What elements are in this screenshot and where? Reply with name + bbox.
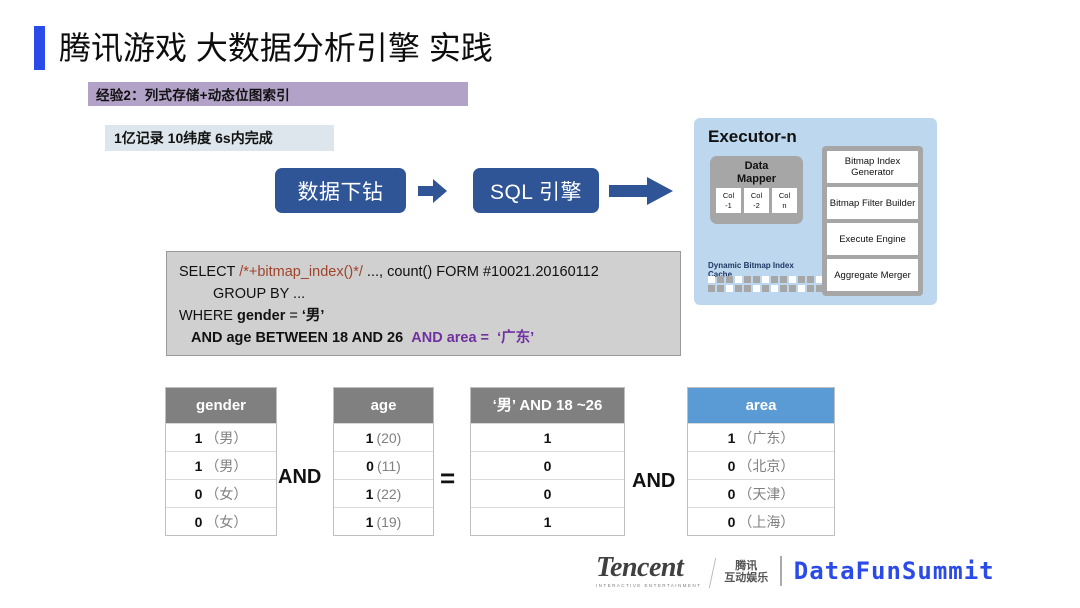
- bitmap-cell: [735, 285, 742, 292]
- table-row: 0（北京）: [688, 451, 834, 479]
- cell-bit: 1: [544, 514, 552, 530]
- sql-line-2: GROUP BY ...: [179, 283, 680, 305]
- data-mapper-title: Data Mapper: [710, 156, 803, 185]
- bitmap-cell: [717, 285, 724, 292]
- cell-bit: 0: [195, 486, 203, 502]
- sql-gender-value: ‘男’: [302, 308, 325, 324]
- cell-label: （女）: [205, 484, 247, 504]
- column-chip-bottom: -2: [753, 201, 760, 211]
- executor-modules: Bitmap Index Generator Bitmap Filter Bui…: [822, 146, 923, 296]
- cell-label: (11): [377, 458, 401, 474]
- table-result: ‘男’ AND 18 ~26 1 0 0 1: [470, 387, 625, 536]
- table-row: 0（女）: [166, 507, 276, 535]
- cell-bit: 0: [728, 486, 736, 502]
- table-area: area 1（广东） 0（北京） 0（天津） 0（上海）: [687, 387, 835, 536]
- operator-equals: =: [440, 463, 455, 494]
- column-chip-top: Col: [751, 191, 762, 201]
- sql-age-condition: AND age BETWEEN 18 AND 26: [191, 330, 403, 346]
- operator-and-2: AND: [632, 470, 675, 493]
- table-gender-header: gender: [166, 388, 276, 423]
- sql-where-keyword: WHERE: [179, 308, 237, 324]
- bitmap-cell: [717, 276, 724, 283]
- table-row: 0: [471, 451, 624, 479]
- cell-label: （男）: [205, 428, 247, 448]
- tencent-logo: Tencent INTERACTIVE ENTERTAINMENT 腾讯 互动娱…: [596, 554, 768, 588]
- table-area-header: area: [688, 388, 834, 423]
- metric-band-label: 1亿记录 10纬度 6s内完成: [105, 128, 273, 148]
- subtitle-band-label: 经验2：列式存储+动态位图索引: [88, 84, 290, 104]
- bitmap-cell: [726, 276, 733, 283]
- cell-label: (20): [376, 430, 401, 446]
- data-mapper-block: Data Mapper Col -1 Col -2 Col n: [710, 156, 803, 224]
- bitmap-row: [708, 276, 823, 283]
- table-result-header: ‘男’ AND 18 ~26: [471, 388, 624, 423]
- column-chip-bottom: n: [782, 201, 786, 211]
- sql-gender-col: gender: [237, 308, 285, 324]
- cell-bit: 1: [728, 430, 736, 446]
- cell-bit: 0: [728, 458, 736, 474]
- tencent-wordmark: Tencent: [596, 554, 701, 582]
- bitmap-cell: [789, 276, 796, 283]
- table-row: 1（男）: [166, 423, 276, 451]
- table-age-header: age: [334, 388, 433, 423]
- arrow-right-icon-1: [418, 178, 448, 204]
- table-row: 1(22): [334, 479, 433, 507]
- logo-divider: [709, 558, 716, 588]
- bitmap-cell: [807, 276, 814, 283]
- sql-line1-tail: ..., count() FORM #10021.20160112: [363, 264, 599, 280]
- cell-label: （女）: [205, 512, 247, 532]
- table-row: 0（上海）: [688, 507, 834, 535]
- table-row: 0（女）: [166, 479, 276, 507]
- tencent-cn-line2: 互动娱乐: [724, 572, 768, 584]
- cell-label: （广东）: [738, 428, 794, 448]
- cell-bit: 0: [544, 458, 552, 474]
- page-title: 腾讯游戏 大数据分析引擎 实践: [34, 26, 493, 70]
- executor-title: Executor-n: [708, 127, 797, 147]
- column-chip: Col n: [772, 188, 797, 213]
- module-aggregate-merger[interactable]: Aggregate Merger: [827, 259, 918, 291]
- table-row: 0（天津）: [688, 479, 834, 507]
- column-chip-top: Col: [723, 191, 734, 201]
- bitmap-cell: [771, 285, 778, 292]
- cell-label: （天津）: [738, 484, 794, 504]
- bitmap-cell: [807, 285, 814, 292]
- sql-code-block: SELECT /*+bitmap_index()*/ ..., count() …: [166, 251, 681, 356]
- column-chip: Col -1: [716, 188, 741, 213]
- data-mapper-title-line1: Data: [710, 160, 803, 173]
- cell-label: （北京）: [738, 456, 794, 476]
- datafunsummit-logo: DataFunSummit: [794, 557, 995, 585]
- flow-box-data-drill[interactable]: 数据下钻: [275, 168, 406, 213]
- table-row: 1（男）: [166, 451, 276, 479]
- table-row: 1(20): [334, 423, 433, 451]
- bitmap-cell: [753, 285, 760, 292]
- sql-bitmap-hint: /*+bitmap_index()*/: [239, 264, 363, 280]
- operator-and-1: AND: [278, 466, 321, 489]
- cell-label: （上海）: [738, 512, 794, 532]
- column-chip: Col -2: [744, 188, 769, 213]
- module-execute-engine[interactable]: Execute Engine: [827, 223, 918, 255]
- table-row: 1(19): [334, 507, 433, 535]
- module-bitmap-filter-builder[interactable]: Bitmap Filter Builder: [827, 187, 918, 219]
- bitmap-cell: [798, 276, 805, 283]
- flow-box-sql-label: SQL 引擎: [490, 176, 582, 206]
- sql-line-1: SELECT /*+bitmap_index()*/ ..., count() …: [179, 261, 680, 283]
- table-row: 1: [471, 507, 624, 535]
- bitmap-cell: [735, 276, 742, 283]
- tencent-tagline: INTERACTIVE ENTERTAINMENT: [596, 583, 701, 588]
- cell-bit: 1: [195, 430, 203, 446]
- sql-eq-1: =: [285, 308, 302, 324]
- arrow-right-icon-2: [609, 176, 674, 206]
- sql-select-keyword: SELECT: [179, 264, 239, 280]
- cell-bit: 1: [366, 514, 374, 530]
- cell-bit: 1: [366, 430, 374, 446]
- module-bitmap-index-generator[interactable]: Bitmap Index Generator: [827, 151, 918, 183]
- cell-bit: 0: [195, 514, 203, 530]
- cell-bit: 1: [366, 486, 374, 502]
- metric-band: 1亿记录 10纬度 6s内完成: [105, 125, 334, 151]
- flow-box-sql-engine[interactable]: SQL 引擎: [473, 168, 599, 213]
- cell-bit: 0: [366, 458, 374, 474]
- bitmap-cell: [708, 285, 715, 292]
- table-row: 0: [471, 479, 624, 507]
- data-mapper-columns: Col -1 Col -2 Col n: [710, 188, 803, 213]
- bitmap-cell: [762, 276, 769, 283]
- subtitle-band: 经验2：列式存储+动态位图索引: [88, 82, 468, 106]
- cell-label: (19): [376, 514, 401, 530]
- bitmap-cell: [798, 285, 805, 292]
- sql-line-3: WHERE gender = ‘男’: [179, 305, 680, 327]
- sql-area-condition: AND area =: [411, 330, 489, 346]
- table-row: 0(11): [334, 451, 433, 479]
- bitmap-row: [708, 285, 823, 292]
- data-mapper-title-line2: Mapper: [710, 173, 803, 186]
- table-age: age 1(20) 0(11) 1(22) 1(19): [333, 387, 434, 536]
- cell-bit: 1: [544, 430, 552, 446]
- flow-box-drill-label: 数据下钻: [298, 176, 384, 206]
- footer: Tencent INTERACTIVE ENTERTAINMENT 腾讯 互动娱…: [596, 548, 1066, 594]
- footer-divider: [780, 556, 782, 586]
- bitmap-cell: [780, 276, 787, 283]
- bitmap-cell: [762, 285, 769, 292]
- bitmap-cell: [780, 285, 787, 292]
- table-gender: gender 1（男） 1（男） 0（女） 0（女）: [165, 387, 277, 536]
- title-text: 腾讯游戏 大数据分析引擎 实践: [59, 26, 493, 70]
- bitmap-cell: [744, 276, 751, 283]
- sql-area-value: ‘广东’: [497, 330, 534, 346]
- cell-label: （男）: [205, 456, 247, 476]
- slide-canvas: 腾讯游戏 大数据分析引擎 实践 经验2：列式存储+动态位图索引 1亿记录 10纬…: [0, 0, 1080, 608]
- bitmap-cell: [708, 276, 715, 283]
- tencent-cn-line1: 腾讯: [724, 560, 768, 572]
- table-row: 1: [471, 423, 624, 451]
- cell-bit: 0: [544, 486, 552, 502]
- column-chip-top: Col: [779, 191, 790, 201]
- bitmap-cell: [744, 285, 751, 292]
- bitmap-cell: [726, 285, 733, 292]
- sql-line-4: AND age BETWEEN 18 AND 26 AND area = ‘广东…: [179, 327, 680, 349]
- table-row: 1（广东）: [688, 423, 834, 451]
- cell-label: (22): [376, 486, 401, 502]
- bitmap-cell: [753, 276, 760, 283]
- executor-panel: Executor-n Data Mapper Col -1 Col -2 Col…: [694, 118, 937, 305]
- bitmap-cell: [789, 285, 796, 292]
- column-chip-bottom: -1: [725, 201, 732, 211]
- cell-bit: 0: [728, 514, 736, 530]
- cell-bit: 1: [195, 458, 203, 474]
- bitmap-cell: [771, 276, 778, 283]
- title-accent-bar: [34, 26, 45, 70]
- bitmap-cache-grid: [708, 276, 823, 292]
